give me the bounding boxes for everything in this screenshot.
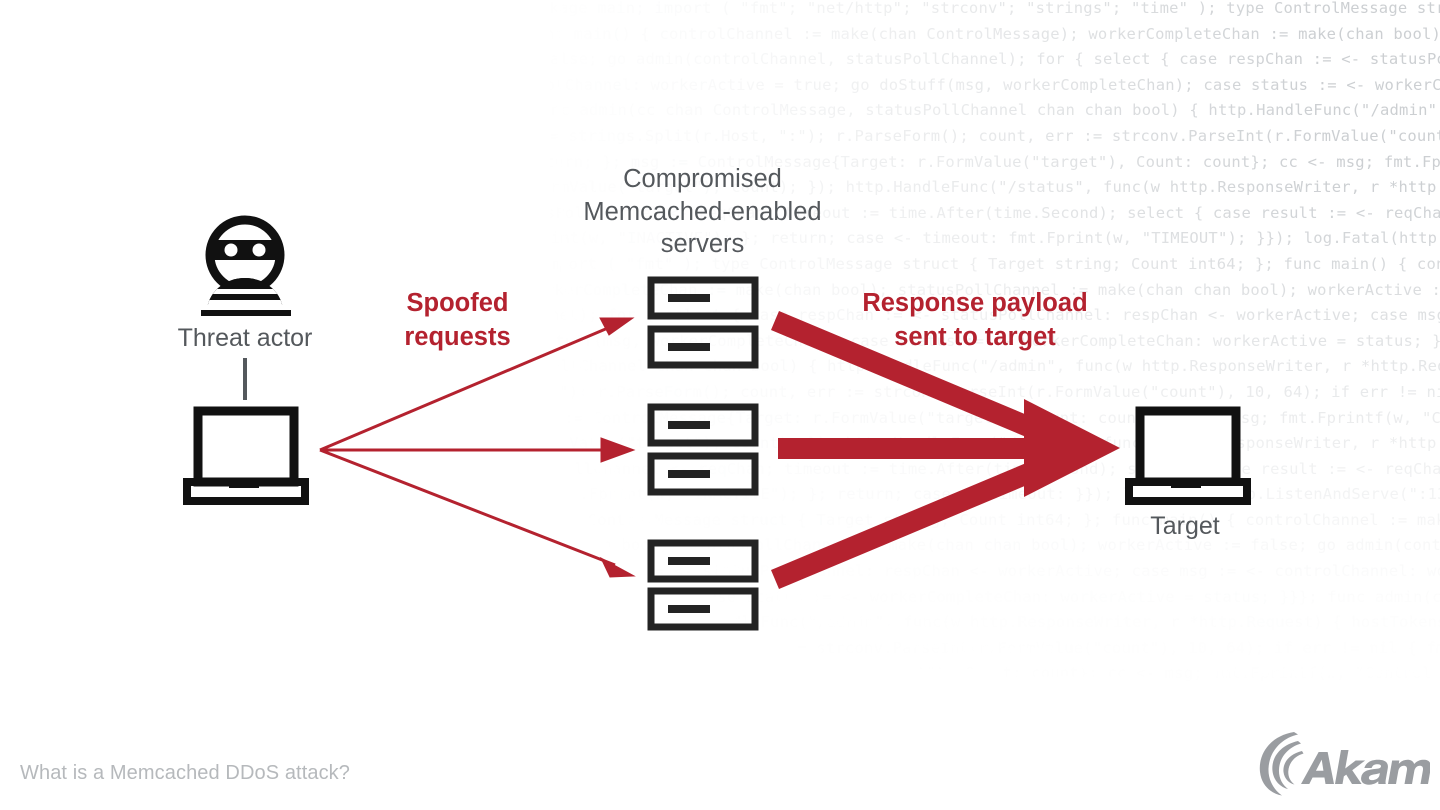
servers-label-line2: Memcached-enabled [540, 196, 865, 229]
threat-actor-label: Threat actor [110, 322, 380, 355]
spoofed-requests-line2: requests [350, 320, 565, 354]
akamai-logo [1254, 724, 1430, 800]
response-payload-label: Response payload sent to target [840, 286, 1110, 354]
servers-label-line3: servers [540, 228, 865, 261]
response-payload-line2: sent to target [840, 320, 1110, 354]
diagram-canvas: ckage main; import ( "fmt"; "net/http"; … [0, 0, 1440, 810]
spoofed-requests-line1: Spoofed [350, 286, 565, 320]
server-stack-2 [651, 407, 755, 492]
spoofed-arrow-middle [320, 438, 634, 462]
attacker-laptop-base [187, 479, 305, 501]
server-stack-3 [651, 543, 755, 627]
servers-label: Compromised Memcached-enabled servers [540, 163, 865, 261]
page-title: What is a Memcached DDoS attack? [20, 762, 350, 785]
response-arrowhead [1024, 399, 1120, 497]
attacker-laptop-icon [198, 411, 294, 482]
server-stack-1 [651, 280, 755, 365]
target-label: Target [1075, 510, 1295, 543]
response-payload-line1: Response payload [840, 286, 1110, 320]
spoofed-request-arrows [320, 318, 634, 577]
servers-label-line1: Compromised [540, 163, 865, 196]
spoofed-arrow-bottom [320, 450, 634, 577]
target-laptop-icon [1129, 411, 1247, 501]
threat-actor-icon [200, 220, 292, 318]
diagram-artwork [0, 0, 1440, 810]
spoofed-requests-label: Spoofed requests [350, 286, 565, 354]
